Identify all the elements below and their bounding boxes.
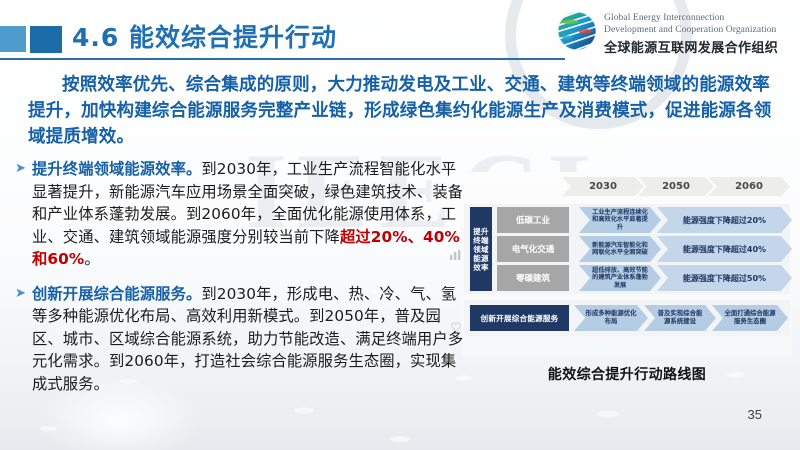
panel-b-step-2030: 形成多种能源优化布局 bbox=[574, 305, 648, 331]
panel-b-step-2060: 全面打通综合能源服务生态圈 bbox=[712, 305, 788, 331]
heart-icon bbox=[450, 320, 462, 332]
panel-b-step-2050: 普及实现综合能源系统建设 bbox=[644, 305, 716, 331]
timeline-year-2050: 2050 bbox=[638, 177, 714, 196]
page-number: 35 bbox=[748, 407, 762, 422]
logo-chinese-name: 全球能源互联网发展合作组织 bbox=[604, 37, 778, 56]
organization-logo: Global Energy Interconnection Developmen… bbox=[556, 6, 796, 56]
globe-icon bbox=[556, 10, 598, 52]
header-underline bbox=[0, 58, 565, 60]
slide-root: IEECL 4.6 能效综合提升行动 bbox=[0, 0, 800, 450]
roadmap-panel-efficiency: 提升终端领域能源效率 低碳工业 工业生产流程连续化和高效化水平显著提升 能源强度… bbox=[464, 204, 790, 294]
logo-english-line-2: Development and Cooperation Organization bbox=[604, 25, 776, 35]
bullet-item-2: ➤ 创新开展综合能源服务。到2030年，形成电、热、冷、气、氢等多种能源优化布局… bbox=[14, 283, 464, 396]
header-accent-square-light bbox=[0, 26, 26, 52]
bar-chart-icon bbox=[449, 249, 462, 261]
row-category-label: 低碳工业 bbox=[497, 207, 569, 233]
row-milestone-2030: 工业生产流程连续化和高效化水平显著提升 bbox=[579, 207, 661, 233]
header-accent-square-dark bbox=[30, 26, 62, 53]
lead-paragraph: 按照效率优先、综合集成的原则，大力推动发电及工业、交通、建筑等终端领域的能源效率… bbox=[28, 72, 776, 150]
bullet-list: ➤ 提升终端领域能源效率。到2030年，工业生产流程智能化水平显著提升，新能源汽… bbox=[14, 158, 464, 395]
slide-header: 4.6 能效综合提升行动 bbox=[0, 0, 800, 66]
row-category-label: 电气化交通 bbox=[497, 236, 569, 262]
row-milestone-2060: 能源强度下降超过50% bbox=[657, 265, 792, 291]
page-title: 4.6 能效综合提升行动 bbox=[72, 18, 337, 54]
roadmap-diagram: 2030 2050 2060 提升终端领域能源效率 低碳工业 工业生产流程连续化… bbox=[462, 172, 792, 357]
diagram-caption: 能效综合提升行动路线图 bbox=[462, 364, 792, 384]
bullet-2-lead-in: 创新开展综合能源服务。 bbox=[32, 285, 201, 303]
row-category-label: 零碳建筑 bbox=[497, 265, 569, 291]
bullet-arrow-icon: ➤ bbox=[15, 286, 26, 302]
row-milestone-2060: 能源强度下降超过40% bbox=[657, 236, 792, 262]
panel-b-label: 创新开展综合能源服务 bbox=[470, 305, 569, 331]
row-milestone-2030: 新能源汽车智能化和网联化水平全面突破 bbox=[579, 236, 661, 262]
row-milestone-2030: 超低排放、高效节能的建筑产业体系蓬勃发展 bbox=[579, 265, 661, 291]
bullet-1-lead-in: 提升终端领域能源效率。 bbox=[32, 160, 201, 178]
bullet-item-1: ➤ 提升终端领域能源效率。到2030年，工业生产流程智能化水平显著提升，新能源汽… bbox=[14, 158, 464, 271]
panel-a-vertical-label: 提升终端领域能源效率 bbox=[470, 207, 492, 291]
timeline-year-2030: 2030 bbox=[562, 177, 644, 196]
timeline-year-row: 2030 2050 2060 bbox=[562, 177, 790, 196]
timeline-year-2060: 2060 bbox=[708, 177, 790, 196]
row-milestone-2060: 能源强度下降超过20% bbox=[657, 207, 792, 233]
logo-english-line-1: Global Energy Interconnection bbox=[604, 13, 724, 23]
bullet-1-text-tail: 。 bbox=[84, 250, 99, 268]
bullet-arrow-icon: ➤ bbox=[15, 161, 26, 177]
roadmap-panel-energy-services: 创新开展综合能源服务 形成多种能源优化布局 普及实现综合能源系统建设 全面打通综… bbox=[464, 300, 790, 336]
